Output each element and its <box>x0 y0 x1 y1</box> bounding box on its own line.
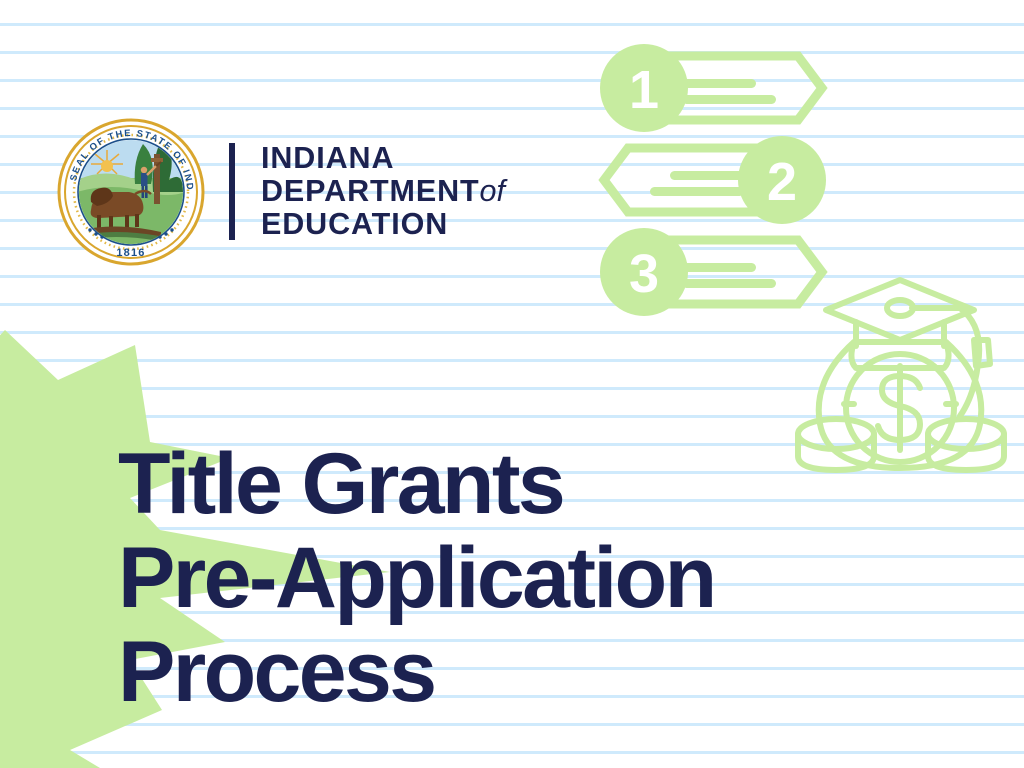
title-line-2: Pre-Application <box>118 531 715 625</box>
step-number-1: 1 <box>629 60 659 120</box>
slide-canvas: SEAL OF THE STATE OF INDIANA 1816 <box>0 0 1024 768</box>
wordmark-department-text: DEPARTMENT <box>261 174 480 208</box>
wordmark-line-education: EDUCATION <box>261 208 505 241</box>
wordmark-line-department: DEPARTMENTof <box>261 175 505 208</box>
brand-divider <box>229 143 235 240</box>
step-number-3: 3 <box>629 244 659 304</box>
step-banner-right-icon-1: 1 <box>598 42 828 134</box>
title-line-1: Title Grants <box>118 437 715 531</box>
wordmark-of-text: of <box>480 174 505 208</box>
page-title: Title Grants Pre-Application Process <box>118 437 715 719</box>
svg-text:1816: 1816 <box>116 247 145 259</box>
title-line-3: Process <box>118 625 715 719</box>
brand-lockup: SEAL OF THE STATE OF INDIANA 1816 <box>57 126 527 256</box>
indiana-state-seal-icon: SEAL OF THE STATE OF INDIANA 1816 <box>57 118 205 266</box>
indiana-doe-wordmark: INDIANA DEPARTMENTof EDUCATION <box>261 142 505 241</box>
step-number-2: 2 <box>767 152 797 212</box>
step-banner-left-icon-2: 2 <box>598 134 828 226</box>
money-bag-graduation-cap-icon <box>788 268 1020 486</box>
wordmark-line-indiana: INDIANA <box>261 142 505 175</box>
